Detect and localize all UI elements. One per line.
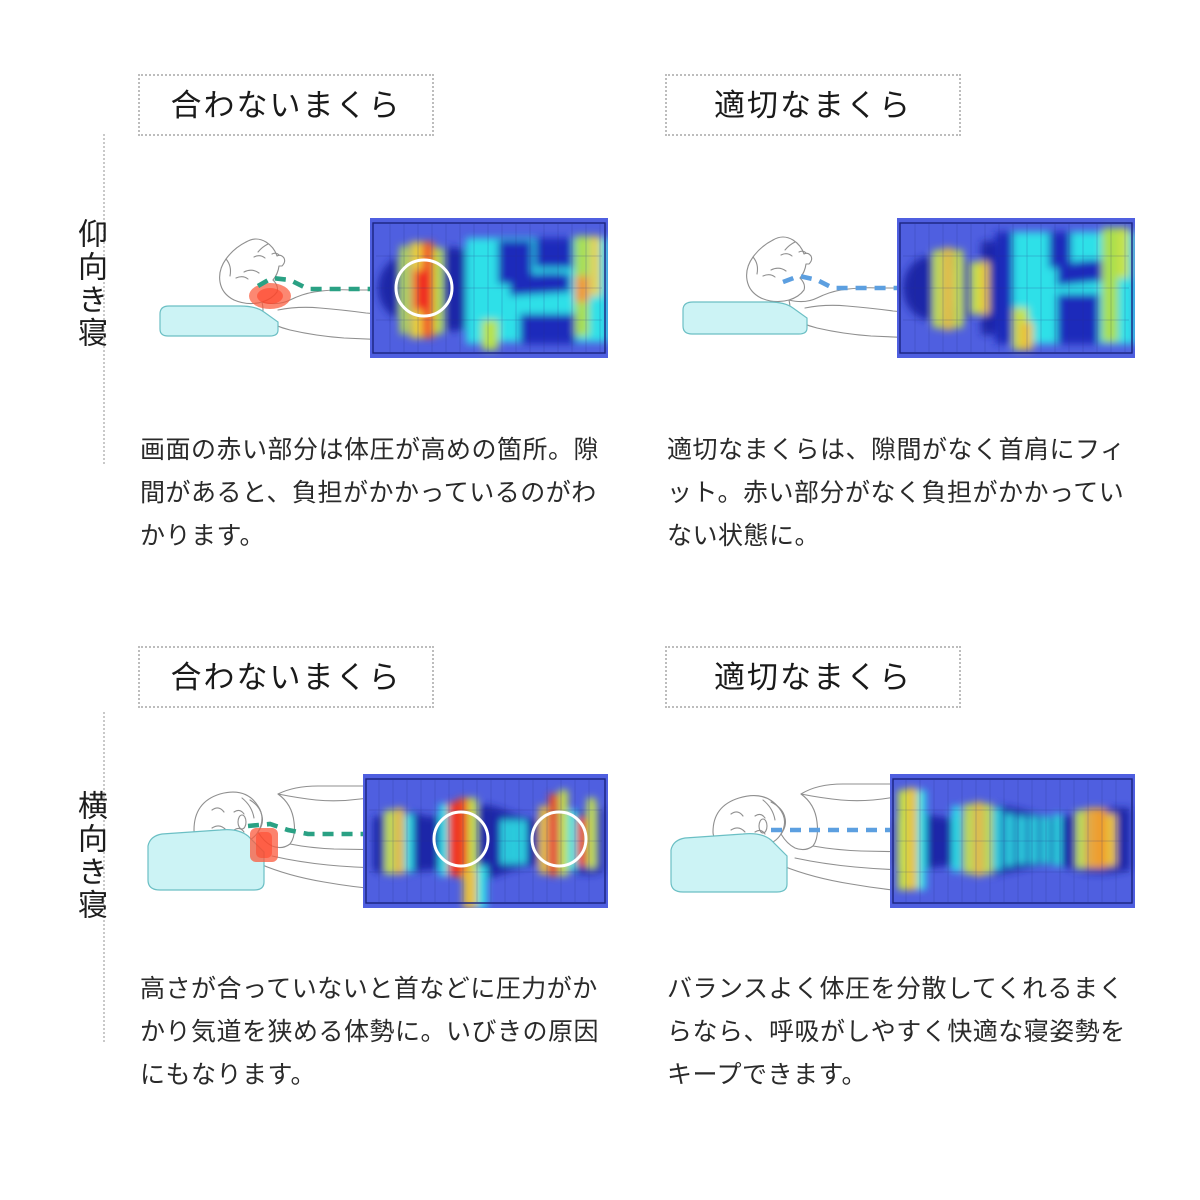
panel-media [138,214,608,364]
panel-media [665,772,1135,922]
illustration-side-good [665,772,917,922]
panel-caption: 画面の赤い部分は体圧が高めの箇所。隙間があると、負担がかかっているのがわかります… [140,429,602,558]
pressure-heatmap-side-good [890,774,1135,908]
panel-side-bad: 合わないまくら [138,646,434,708]
panel-supine-bad: 合わないまくら [138,74,434,136]
panel-heading-text: 合わないまくら [171,662,402,693]
panel-media [138,772,608,922]
panel-side-good: 適切なまくら [665,646,961,708]
panel-heading-box: 合わないまくら [138,74,434,136]
panel-heading-text: 適切なまくら [714,662,912,693]
panel-media [665,214,1135,364]
panel-supine-good: 適切なまくら [665,74,961,136]
panel-caption: バランスよく体圧を分散してくれるまくらなら、呼吸がしやすく快適な寝姿勢をキープで… [667,968,1129,1097]
panel-heading-text: 適切なまくら [714,90,912,121]
panel-caption: 適切なまくらは、隙間がなく首肩にフィット。赤い部分がなく負担がかかっていない状態… [667,429,1129,558]
illustration-supine-bad [138,214,390,364]
pillow-shape [148,830,264,890]
panel-heading-box: 合わないまくら [138,646,434,708]
panel-heading-box: 適切なまくら [665,646,961,708]
panel-heading-text: 合わないまくら [171,90,402,121]
illustration-supine-good [665,214,917,364]
illustration-side-bad [138,772,390,922]
row-label-side: 横向き寝 [38,790,104,922]
pressure-gap-marker [250,828,278,862]
pressure-heatmap-side-bad [363,774,608,908]
panel-caption: 高さが合っていないと首などに圧力がかかり気道を狭める体勢に。いびきの原因にもなり… [140,968,602,1097]
panel-heading-box: 適切なまくら [665,74,961,136]
infographic-root: 仰向き寝 横向き寝 合わないまくら [0,0,1200,1200]
row-label-supine: 仰向き寝 [38,218,104,350]
pillow-shape [671,834,787,892]
pillow-shape [160,306,278,336]
pillow-shape [683,302,807,334]
pressure-gap-marker [249,283,291,309]
pressure-heatmap-supine-bad [370,218,608,358]
pressure-heatmap-supine-good [897,218,1135,358]
